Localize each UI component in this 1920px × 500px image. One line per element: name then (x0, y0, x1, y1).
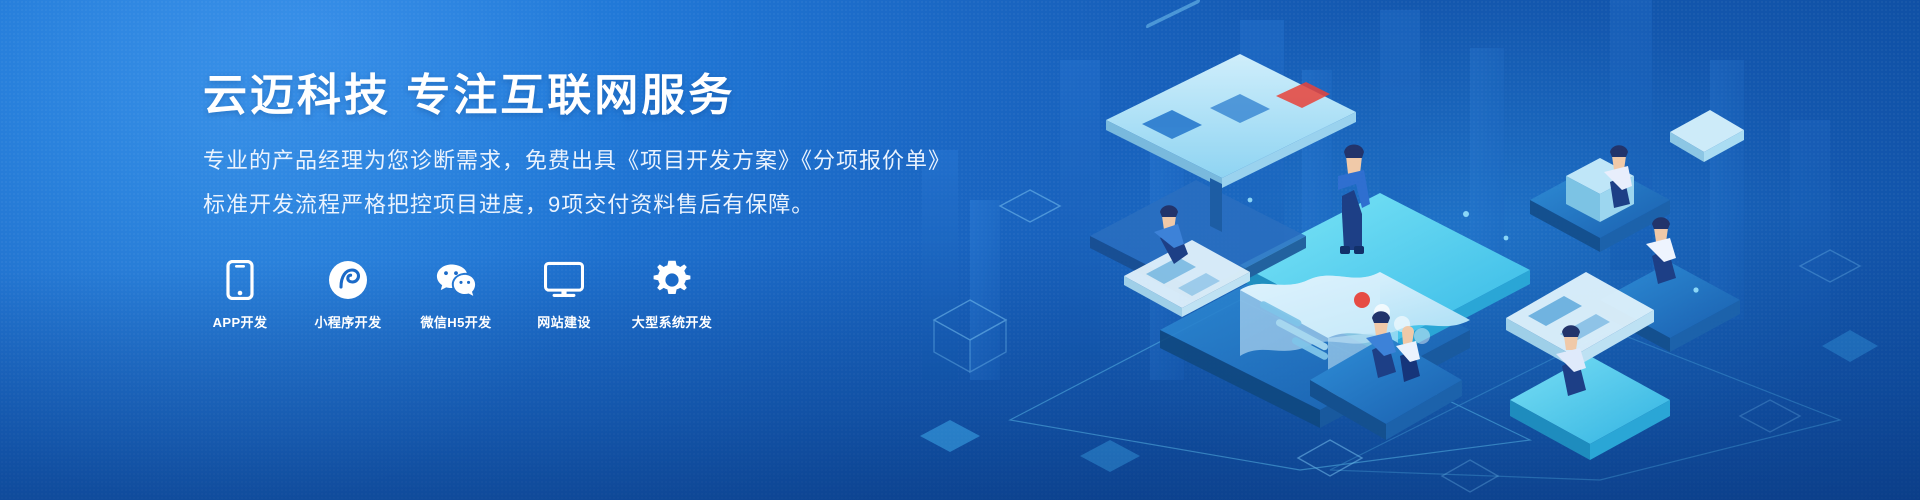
mobile-phone-icon (220, 260, 260, 300)
subtitle-line-2: 标准开发流程严格把控项目进度，9项交付资料售后有保障。 (203, 188, 923, 222)
monitor-icon (544, 260, 584, 300)
service-item-miniprogram[interactable]: 小程序开发 (311, 260, 385, 331)
service-list: APP开发 小程序开发 (203, 260, 923, 331)
service-item-system[interactable]: 大型系统开发 (635, 260, 709, 331)
subtitle-line-1: 专业的产品经理为您诊断需求，免费出具《项目开发方案》《分项报价单》 (203, 144, 923, 178)
service-label-website: 网站建设 (537, 312, 591, 331)
service-label-system: 大型系统开发 (632, 312, 712, 331)
page-title: 云迈科技 专注互联网服务 (203, 70, 923, 122)
service-label-app: APP开发 (213, 312, 268, 331)
wechat-icon (436, 260, 476, 300)
banner-content: 云迈科技 专注互联网服务 专业的产品经理为您诊断需求，免费出具《项目开发方案》《… (203, 70, 923, 331)
service-item-website[interactable]: 网站建设 (527, 260, 601, 331)
service-item-wechat[interactable]: 微信H5开发 (419, 260, 493, 331)
service-item-app[interactable]: APP开发 (203, 260, 277, 331)
hero-banner: 云迈科技 专注互联网服务 专业的产品经理为您诊断需求，免费出具《项目开发方案》《… (0, 0, 1920, 500)
banner-subtitle: 专业的产品经理为您诊断需求，免费出具《项目开发方案》《分项报价单》 标准开发流程… (203, 144, 923, 222)
gear-icon (652, 260, 692, 300)
service-label-miniprogram: 小程序开发 (314, 312, 381, 331)
mini-program-icon (328, 260, 368, 300)
service-label-wechat: 微信H5开发 (420, 312, 491, 331)
